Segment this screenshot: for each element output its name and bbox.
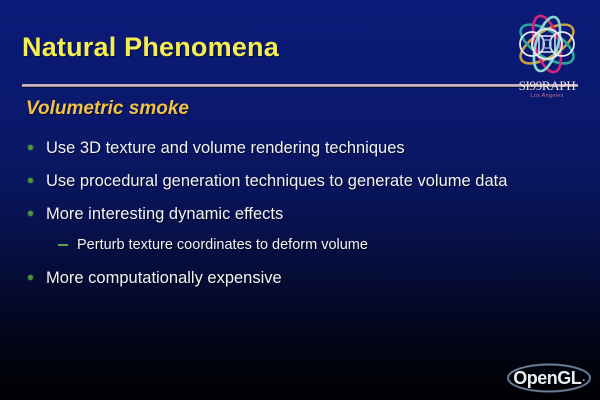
slide-subtitle: Volumetric smoke xyxy=(26,98,189,120)
siggraph-logo: SI99RAPH Los Angeles xyxy=(498,8,596,100)
opengl-trademark-dot: . xyxy=(582,372,585,384)
bullet-dot-icon xyxy=(28,178,33,183)
bullet-text: More interesting dynamic effects xyxy=(46,202,283,226)
siggraph-city-label: Los Angeles xyxy=(498,93,596,99)
page-title: Natural Phenomena xyxy=(22,32,279,63)
bullet-dot-icon xyxy=(28,145,33,150)
opengl-wordmark-label: OpenGL xyxy=(513,368,581,389)
bullet-dot-icon xyxy=(28,275,33,280)
title-divider xyxy=(22,84,578,87)
bullet-item: Perturb texture coordinates to deform vo… xyxy=(26,235,574,256)
bullet-text: Perturb texture coordinates to deform vo… xyxy=(77,235,368,256)
bullet-item: More interesting dynamic effects xyxy=(26,202,574,226)
bullet-text: More computationally expensive xyxy=(46,266,282,290)
opengl-logo: OpenGL. xyxy=(505,362,593,394)
bullet-item: Use procedural generation techniques to … xyxy=(26,169,574,193)
opengl-wordmark: OpenGL. xyxy=(505,362,593,394)
bullet-text: Use procedural generation techniques to … xyxy=(46,169,507,193)
bullet-list: Use 3D texture and volume rendering tech… xyxy=(26,136,574,299)
bullet-text: Use 3D texture and volume rendering tech… xyxy=(46,136,405,160)
bullet-item: Use 3D texture and volume rendering tech… xyxy=(26,136,574,160)
slide-canvas: Natural Phenomena Volumetric smoke Use 3… xyxy=(0,0,600,400)
bullet-dot-icon xyxy=(28,211,33,216)
bullet-item: More computationally expensive xyxy=(26,266,574,290)
siggraph-rings-icon xyxy=(498,8,596,80)
bullet-dash-icon xyxy=(58,244,68,246)
siggraph-wordmark: SI99RAPH xyxy=(498,78,596,94)
